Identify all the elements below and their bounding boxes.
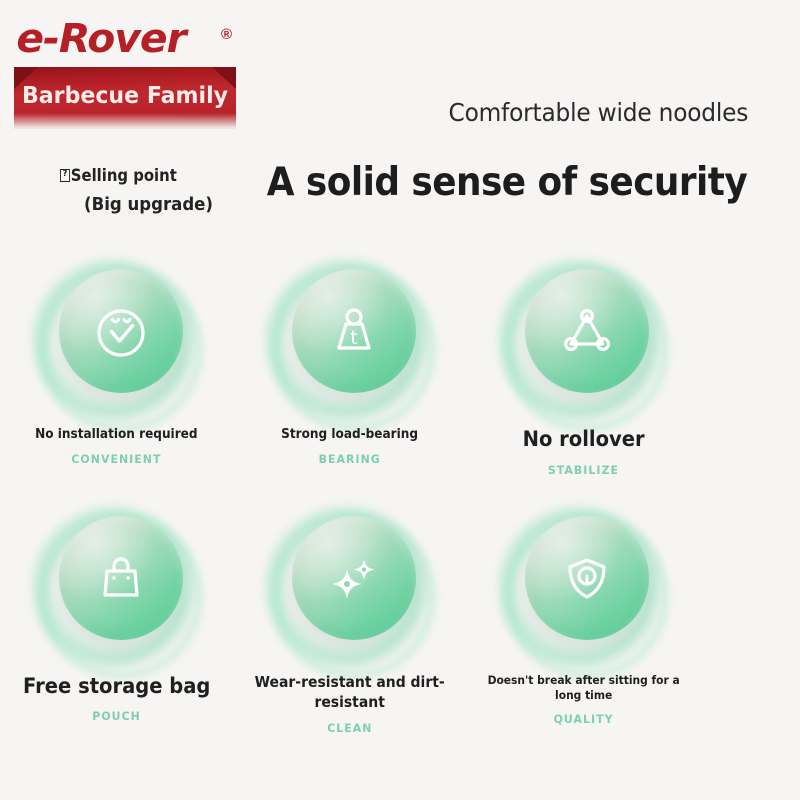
feature-tag: CLEAN bbox=[327, 721, 372, 735]
feature-card-5: Doesn't break after sitting for a long t… bbox=[467, 499, 700, 736]
svg-text:t: t bbox=[350, 327, 357, 349]
missing-glyph-icon bbox=[60, 169, 70, 182]
feature-tag: POUCH bbox=[92, 709, 141, 723]
ribbon-fade bbox=[14, 113, 236, 129]
brand-logo: e-Rover ® Barbecue Family bbox=[14, 10, 254, 125]
orb-sphere bbox=[59, 269, 183, 393]
feature-caption: Wear-resistant and dirt-resistant bbox=[241, 673, 458, 713]
promo-infographic: e-Rover ® Barbecue Family Selling point … bbox=[0, 0, 800, 800]
brand-ribbon: Barbecue Family bbox=[14, 67, 236, 129]
selling-point-label: Selling point bbox=[71, 166, 177, 185]
orb-sphere: t bbox=[292, 269, 416, 393]
feature-caption: Strong load-bearing bbox=[282, 426, 419, 443]
selling-point-line-1: Selling point bbox=[60, 166, 249, 185]
feature-caption: No rollover bbox=[522, 426, 644, 454]
feature-orb-3 bbox=[31, 499, 203, 671]
sparkle-clean-icon bbox=[323, 547, 385, 609]
orb-sphere bbox=[525, 516, 649, 640]
feature-orb-1: t bbox=[264, 252, 436, 424]
feature-card-2: No rollover STABILIZE bbox=[467, 252, 700, 477]
feature-orb-5 bbox=[497, 499, 669, 671]
storage-bag-icon bbox=[90, 547, 152, 609]
feature-caption: No installation required bbox=[35, 426, 197, 443]
feature-orb-4 bbox=[264, 499, 436, 671]
feature-orb-2 bbox=[497, 252, 669, 424]
feature-row-bottom: Free storage bag POUCH bbox=[0, 499, 800, 736]
selling-point-line-2: (Big upgrade) bbox=[84, 194, 255, 215]
triangle-stability-icon bbox=[556, 300, 618, 362]
orb-sphere bbox=[59, 516, 183, 640]
weight-load-icon: t bbox=[323, 300, 385, 362]
feature-tag: CONVENIENT bbox=[72, 452, 162, 466]
brand-tagline: Barbecue Family bbox=[18, 83, 231, 109]
headline-subtitle: Comfortable wide noodles bbox=[448, 98, 748, 127]
selling-point-block: Selling point (Big upgrade) bbox=[60, 166, 270, 215]
orb-sphere bbox=[525, 269, 649, 393]
headline-title: A solid sense of security bbox=[267, 160, 747, 205]
feature-caption: Free storage bag bbox=[23, 673, 210, 701]
feature-caption: Doesn't break after sitting for a long t… bbox=[475, 673, 692, 703]
feature-tag: BEARING bbox=[319, 452, 381, 466]
feature-card-0: No installation required CONVENIENT bbox=[0, 252, 233, 477]
feature-card-1: t Strong load-bearing BEARING bbox=[233, 252, 466, 477]
feature-tag: STABILIZE bbox=[548, 463, 619, 477]
orb-sphere bbox=[292, 516, 416, 640]
feature-grid: No installation required CONVENIENT t bbox=[0, 252, 800, 735]
registered-trademark-icon: ® bbox=[221, 26, 232, 43]
brand-wordmark: e-Rover bbox=[16, 16, 185, 62]
feature-row-top: No installation required CONVENIENT t bbox=[0, 252, 800, 477]
feature-tag: QUALITY bbox=[553, 712, 613, 726]
feature-card-4: Wear-resistant and dirt-resistant CLEAN bbox=[233, 499, 466, 736]
feature-card-3: Free storage bag POUCH bbox=[0, 499, 233, 736]
smiley-check-circle-icon bbox=[90, 300, 152, 362]
shield-quality-icon bbox=[556, 547, 618, 609]
feature-orb-0 bbox=[31, 252, 203, 424]
